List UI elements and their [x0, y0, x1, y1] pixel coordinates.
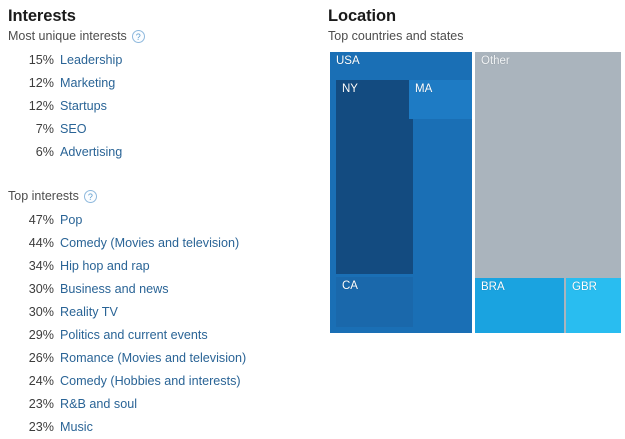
treemap-tile-gbr[interactable]: GBR — [566, 278, 621, 333]
list-item: 24% Comedy (Hobbies and interests) — [8, 370, 320, 393]
interest-label[interactable]: Advertising — [60, 141, 122, 164]
interest-percent: 24% — [8, 370, 60, 393]
interest-label[interactable]: Comedy (Movies and television) — [60, 232, 239, 255]
interest-label[interactable]: Hip hop and rap — [60, 255, 150, 278]
interests-panel: Interests Most unique interests ? 15% Le… — [8, 0, 320, 439]
page-title: Interests — [8, 0, 320, 26]
treemap-label-gbr: GBR — [572, 281, 597, 293]
interest-percent: 47% — [8, 209, 60, 232]
interest-label[interactable]: Politics and current events — [60, 324, 208, 347]
interest-percent: 23% — [8, 416, 60, 439]
list-item: 34% Hip hop and rap — [8, 255, 320, 278]
list-item: 44% Comedy (Movies and television) — [8, 232, 320, 255]
interest-label[interactable]: Startups — [60, 95, 107, 118]
location-panel: Location Top countries and states USA NY… — [328, 0, 625, 49]
list-item: 6% Advertising — [8, 141, 320, 164]
interest-percent: 44% — [8, 232, 60, 255]
interest-percent: 23% — [8, 393, 60, 416]
interest-label[interactable]: Music — [60, 416, 93, 439]
list-item: 29% Politics and current events — [8, 324, 320, 347]
interest-label[interactable]: Leadership — [60, 49, 122, 72]
treemap-tile-ny[interactable]: NY — [336, 80, 413, 274]
top-interests-subhead: Top interests ? — [8, 188, 320, 205]
list-item: 30% Business and news — [8, 278, 320, 301]
interest-label[interactable]: Comedy (Hobbies and interests) — [60, 370, 241, 393]
interest-label[interactable]: Reality TV — [60, 301, 118, 324]
treemap-label-ma: MA — [415, 83, 432, 95]
section-spacer — [8, 164, 320, 186]
list-item: 30% Reality TV — [8, 301, 320, 324]
location-subhead: Top countries and states — [328, 28, 625, 45]
most-unique-interests-subhead: Most unique interests ? — [8, 28, 320, 45]
list-item: 26% Romance (Movies and television) — [8, 347, 320, 370]
most-unique-interests-label: Most unique interests — [8, 28, 127, 45]
treemap-tile-ma[interactable]: MA — [409, 80, 472, 119]
treemap-label-ca: CA — [342, 280, 358, 292]
list-item: 12% Marketing — [8, 72, 320, 95]
interest-percent: 6% — [8, 141, 60, 164]
help-icon[interactable]: ? — [132, 30, 145, 43]
interest-percent: 26% — [8, 347, 60, 370]
interest-percent: 29% — [8, 324, 60, 347]
most-unique-interests-list: 15% Leadership 12% Marketing 12% Startup… — [8, 49, 320, 164]
list-item: 23% R&B and soul — [8, 393, 320, 416]
list-item: 7% SEO — [8, 118, 320, 141]
interest-percent: 7% — [8, 118, 60, 141]
interest-percent: 15% — [8, 49, 60, 72]
list-item: 15% Leadership — [8, 49, 320, 72]
top-interests-label: Top interests — [8, 188, 79, 205]
treemap-tile-ca[interactable]: CA — [336, 277, 413, 327]
location-subhead-label: Top countries and states — [328, 28, 464, 45]
interest-percent: 30% — [8, 301, 60, 324]
interest-label[interactable]: Pop — [60, 209, 82, 232]
list-item: 47% Pop — [8, 209, 320, 232]
interest-percent: 12% — [8, 72, 60, 95]
treemap-label-other: Other — [481, 55, 510, 67]
interest-label[interactable]: R&B and soul — [60, 393, 137, 416]
interest-percent: 34% — [8, 255, 60, 278]
top-interests-list: 47% Pop 44% Comedy (Movies and televisio… — [8, 209, 320, 439]
help-icon[interactable]: ? — [84, 190, 97, 203]
interest-label[interactable]: SEO — [60, 118, 87, 141]
interest-label[interactable]: Romance (Movies and television) — [60, 347, 246, 370]
list-item: 23% Music — [8, 416, 320, 439]
list-item: 12% Startups — [8, 95, 320, 118]
treemap-label-usa: USA — [336, 55, 360, 67]
location-title: Location — [328, 0, 625, 26]
treemap-tile-bra[interactable]: BRA — [475, 278, 564, 333]
interest-percent: 30% — [8, 278, 60, 301]
interest-label[interactable]: Marketing — [60, 72, 115, 95]
treemap-label-ny: NY — [342, 83, 358, 95]
interest-percent: 12% — [8, 95, 60, 118]
location-treemap: USA NY MA CA Other BRA GBR — [330, 52, 621, 333]
treemap-label-bra: BRA — [481, 281, 505, 293]
interest-label[interactable]: Business and news — [60, 278, 169, 301]
